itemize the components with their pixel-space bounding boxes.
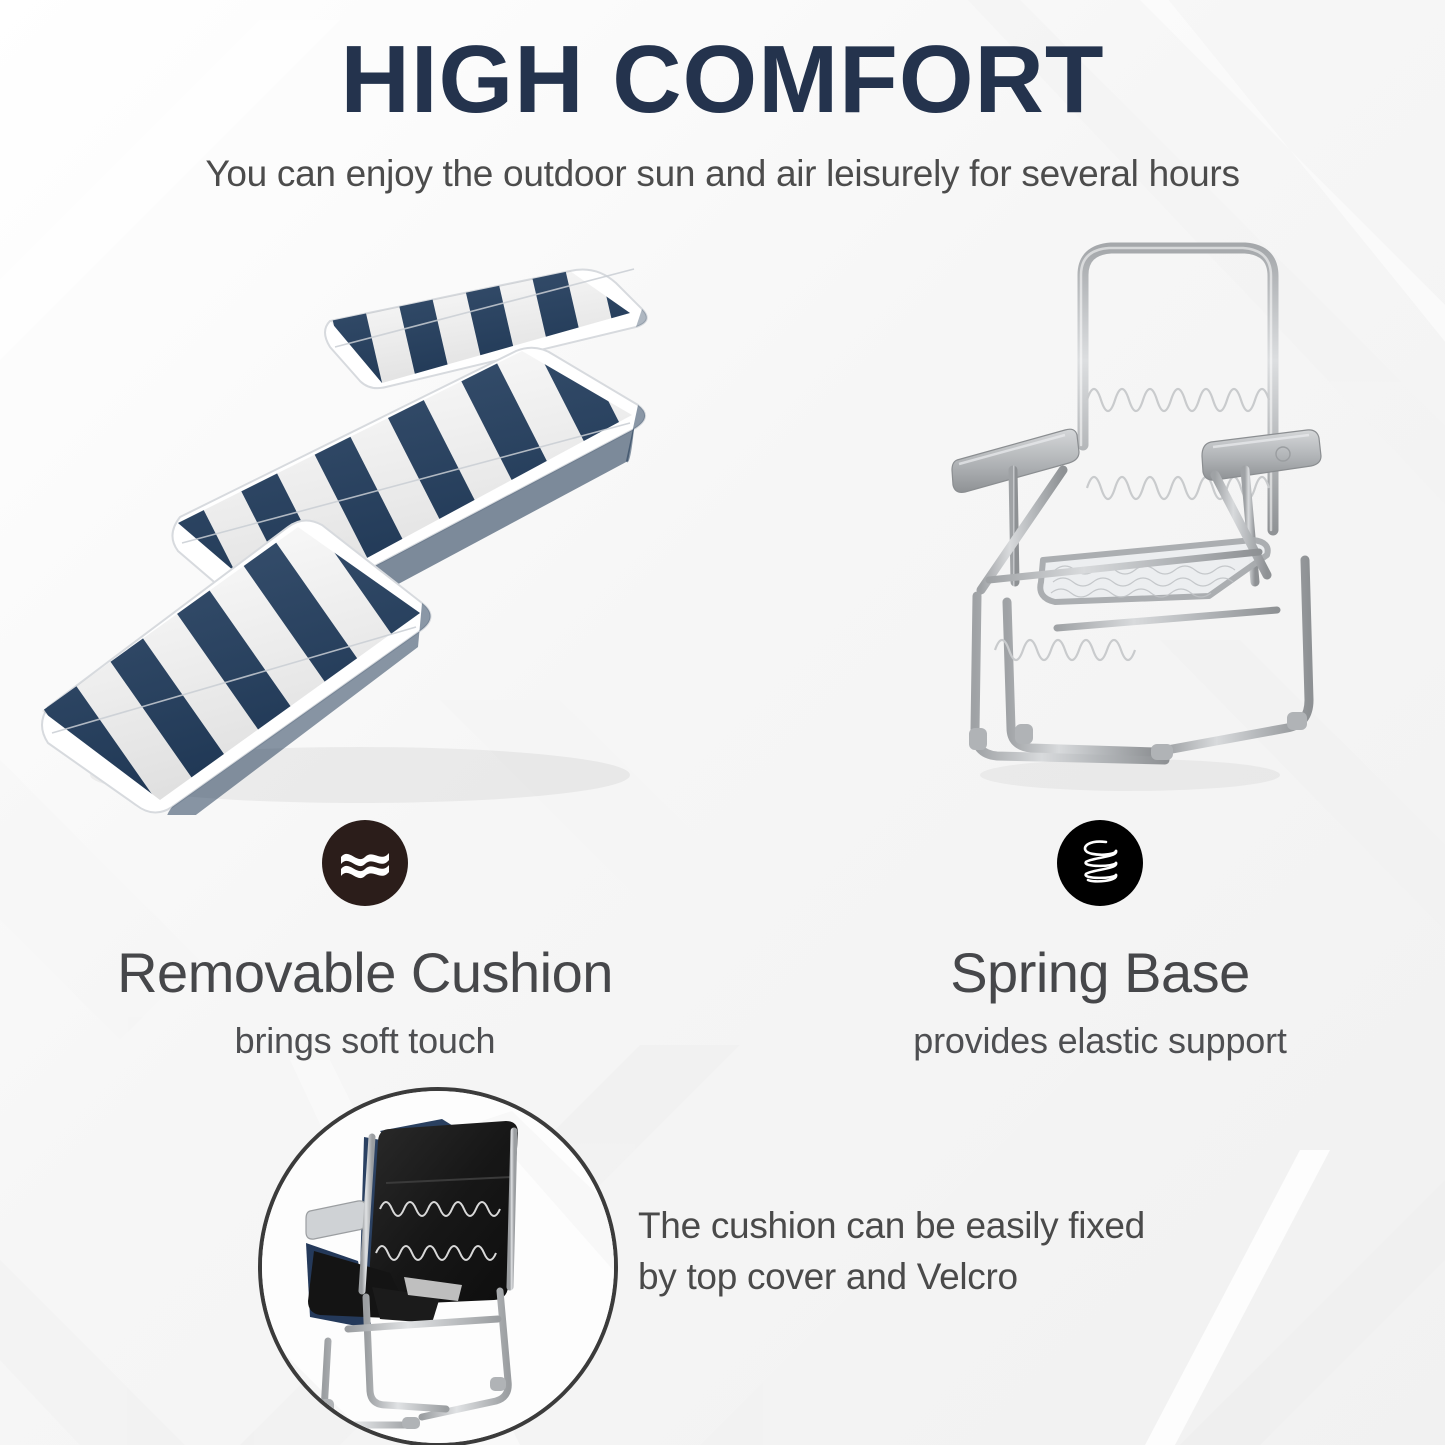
- infographic-page: HIGH COMFORT You can enjoy the outdoor s…: [0, 0, 1445, 1445]
- wave-cushion-icon: [322, 820, 408, 906]
- cushion-product-image: [30, 255, 830, 815]
- feature-title: Spring Base: [790, 942, 1410, 1004]
- feature-removable-cushion: Removable Cushion brings soft touch: [55, 820, 675, 1062]
- page-subtitle: You can enjoy the outdoor sun and air le…: [0, 153, 1445, 195]
- bottom-note-line2: by top cover and Velcro: [638, 1251, 1258, 1302]
- chair-legs-rear: [975, 470, 1309, 760]
- bottom-note-line1: The cushion can be easily fixed: [638, 1200, 1258, 1251]
- chair-armrest-right: [1202, 430, 1321, 480]
- feature-title: Removable Cushion: [55, 942, 675, 1004]
- feature-spring-base: Spring Base provides elastic support: [790, 820, 1410, 1062]
- backrest-spring-upper: [1087, 389, 1269, 411]
- coil-spring-icon: [1057, 820, 1143, 906]
- cushion-section-foot: [30, 296, 545, 815]
- feature-subtitle: provides elastic support: [790, 1020, 1410, 1062]
- front-rail-spring: [995, 640, 1135, 660]
- feature-subtitle: brings soft touch: [55, 1020, 675, 1062]
- page-title: HIGH COMFORT: [0, 30, 1445, 131]
- header: HIGH COMFORT You can enjoy the outdoor s…: [0, 30, 1445, 195]
- chair-rear-detail-inset: [258, 1087, 618, 1445]
- bottom-note: The cushion can be easily fixed by top c…: [638, 1200, 1258, 1302]
- chair-product-image: [915, 230, 1345, 810]
